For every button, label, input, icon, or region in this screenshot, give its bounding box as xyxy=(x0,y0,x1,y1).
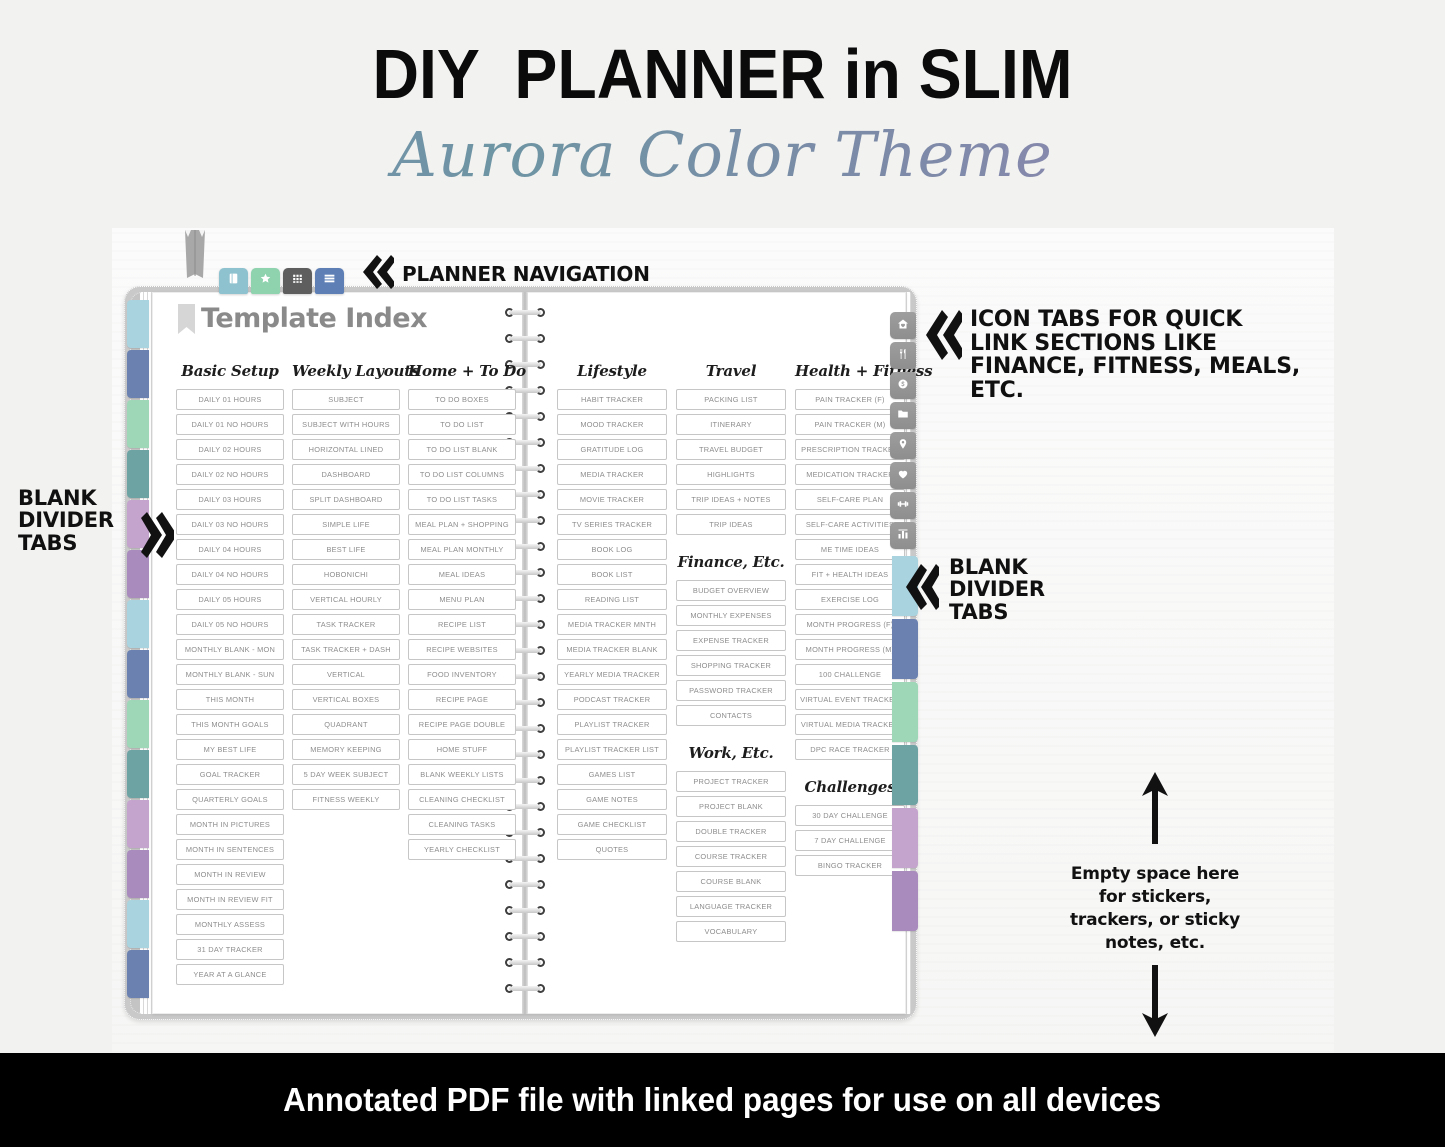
nav-tab-grid[interactable] xyxy=(283,268,312,294)
template-link-button[interactable]: MONTHLY ASSESS xyxy=(176,914,284,935)
meals-fork-knife-icon xyxy=(897,347,909,365)
template-link-button[interactable]: VERTICAL HOURLY xyxy=(292,589,400,610)
category-heading: Challenges xyxy=(795,778,905,796)
template-link-button[interactable]: MONTH IN REVIEW FIT xyxy=(176,889,284,910)
spiral-ring xyxy=(503,308,547,317)
category-heading: Weekly Layouts xyxy=(292,362,400,380)
template-link-button[interactable]: 100 CHALLENGE xyxy=(795,664,905,685)
finance-dollar-icon xyxy=(897,377,909,395)
template-link-button[interactable]: DAILY 01 NO HOURS xyxy=(176,414,284,435)
template-link-button[interactable]: HIGHLIGHTS xyxy=(676,464,786,485)
template-link-button[interactable]: YEAR AT A GLANCE xyxy=(176,964,284,985)
page-subtitle: Aurora Color Theme xyxy=(0,118,1445,191)
divider-tab[interactable] xyxy=(127,750,149,798)
template-link-button[interactable]: FIT + HEALTH IDEAS xyxy=(795,564,905,585)
category-heading: Lifestyle xyxy=(557,362,667,380)
template-link-button[interactable]: DAILY 04 NO HOURS xyxy=(176,564,284,585)
icon-tab-folder[interactable] xyxy=(890,402,916,429)
divider-tab[interactable] xyxy=(127,900,149,948)
template-link-button[interactable]: RECIPE WEBSITES xyxy=(408,639,516,660)
template-link-button[interactable]: QUARTERLY GOALS xyxy=(176,789,284,810)
divider-tab[interactable] xyxy=(127,350,149,398)
template-link-button[interactable]: PLAYLIST TRACKER xyxy=(557,714,667,735)
template-link-button[interactable]: DAILY 03 NO HOURS xyxy=(176,514,284,535)
divider-tab[interactable] xyxy=(127,600,149,648)
template-link-button[interactable]: BOOK LIST xyxy=(557,564,667,585)
template-link-button[interactable]: PROJECT BLANK xyxy=(676,796,786,817)
template-link-button[interactable]: DAILY 04 HOURS xyxy=(176,539,284,560)
template-link-button[interactable]: TRIP IDEAS xyxy=(676,514,786,535)
template-link-button[interactable]: MEAL IDEAS xyxy=(408,564,516,585)
template-link-button[interactable]: 31 DAY TRACKER xyxy=(176,939,284,960)
annotation-empty-space: Empty space here for stickers, trackers,… xyxy=(1055,770,1255,1044)
category-heading: Work, Etc. xyxy=(676,744,786,762)
annotation-blank-divider-tabs-left: BLANK DIVIDER TABS xyxy=(18,475,174,566)
template-column: Health + FitnessPAIN TRACKER (F)PAIN TRA… xyxy=(795,362,905,946)
template-link-button[interactable]: SELF-CARE ACTIVITIES xyxy=(795,514,905,535)
template-link-button[interactable]: DAILY 02 NO HOURS xyxy=(176,464,284,485)
template-link-button[interactable]: SHOPPING TRACKER xyxy=(676,655,786,676)
template-link-button[interactable]: TASK TRACKER + DASH xyxy=(292,639,400,660)
right-page-columns: LifestyleHABIT TRACKERMOOD TRACKERGRATIT… xyxy=(557,362,905,946)
template-link-button[interactable]: PAIN TRACKER (F) xyxy=(795,389,905,410)
annotation-blank-divider-tabs-right-label: BLANK DIVIDER TABS xyxy=(949,556,1099,623)
arrow-down-icon xyxy=(1134,1026,1176,1043)
template-link-button[interactable]: VERTICAL xyxy=(292,664,400,685)
template-link-button[interactable]: CLEANING CHECKLIST xyxy=(408,789,516,810)
template-link-button[interactable]: ITINERARY xyxy=(676,414,786,435)
template-link-button[interactable]: YEARLY MEDIA TRACKER xyxy=(557,664,667,685)
divider-tab[interactable] xyxy=(127,700,149,748)
template-link-button[interactable]: PACKING LIST xyxy=(676,389,786,410)
icon-tab-meals-fork-knife[interactable] xyxy=(890,342,916,369)
template-link-button[interactable]: MONTH PROGRESS (F) xyxy=(795,614,905,635)
template-link-button[interactable]: 5 DAY WEEK SUBJECT xyxy=(292,764,400,785)
chevron-right-double-icon xyxy=(138,509,174,566)
divider-tab[interactable] xyxy=(892,808,918,868)
divider-tab[interactable] xyxy=(127,400,149,448)
template-link-button[interactable]: MEMORY KEEPING xyxy=(292,739,400,760)
template-link-button[interactable]: QUADRANT xyxy=(292,714,400,735)
template-link-button[interactable]: TV SERIES TRACKER xyxy=(557,514,667,535)
chevron-left-double-icon xyxy=(922,306,962,369)
template-link-button[interactable]: DASHBOARD xyxy=(292,464,400,485)
footer-banner: Annotated PDF file with linked pages for… xyxy=(0,1053,1445,1147)
template-link-button[interactable]: GAME CHECKLIST xyxy=(557,814,667,835)
blank-divider-tabs-left[interactable] xyxy=(127,300,149,1000)
template-link-button[interactable]: QUOTES xyxy=(557,839,667,860)
template-link-button[interactable]: GOAL TRACKER xyxy=(176,764,284,785)
template-link-button[interactable]: HOME STUFF xyxy=(408,739,516,760)
icon-tab-finance-dollar[interactable] xyxy=(890,372,916,399)
template-link-button[interactable]: PASSWORD TRACKER xyxy=(676,680,786,701)
template-link-button[interactable]: MEDIA TRACKER BLANK xyxy=(557,639,667,660)
template-link-button[interactable]: MONTHLY EXPENSES xyxy=(676,605,786,626)
template-link-button[interactable]: BOOK LOG xyxy=(557,539,667,560)
footer-text: Annotated PDF file with linked pages for… xyxy=(284,1081,1162,1119)
divider-tab[interactable] xyxy=(892,745,918,805)
template-column: LifestyleHABIT TRACKERMOOD TRACKERGRATIT… xyxy=(557,362,667,946)
template-link-button[interactable]: 7 DAY CHALLENGE xyxy=(795,830,905,851)
template-link-button[interactable]: TRIP IDEAS + NOTES xyxy=(676,489,786,510)
template-link-button[interactable]: CLEANING TASKS xyxy=(408,814,516,835)
annotation-empty-space-label: Empty space here for stickers, trackers,… xyxy=(1055,863,1255,955)
planner-navigation-tabs[interactable] xyxy=(219,268,344,294)
template-link-button[interactable]: DAILY 05 HOURS xyxy=(176,589,284,610)
template-link-button[interactable]: RECIPE PAGE DOUBLE xyxy=(408,714,516,735)
divider-tab[interactable] xyxy=(127,800,149,848)
divider-tab[interactable] xyxy=(127,850,149,898)
template-link-button[interactable]: DAILY 02 HOURS xyxy=(176,439,284,460)
template-column: Weekly LayoutsSUBJECTSUBJECT WITH HOURSH… xyxy=(292,362,400,989)
template-link-button[interactable]: SELF-CARE PLAN xyxy=(795,489,905,510)
template-index-title: Template Index xyxy=(178,303,427,334)
template-link-button[interactable]: MY BEST LIFE xyxy=(176,739,284,760)
template-link-button[interactable]: MENU PLAN xyxy=(408,589,516,610)
annotation-blank-divider-tabs-left-label: BLANK DIVIDER TABS xyxy=(18,487,130,554)
chevron-left-double-icon xyxy=(903,561,939,618)
template-link-button[interactable]: MONTHLY BLANK - MON xyxy=(176,639,284,660)
template-link-button[interactable]: ME TIME IDEAS xyxy=(795,539,905,560)
spiral-ring xyxy=(503,334,547,343)
template-link-button[interactable]: TASK TRACKER xyxy=(292,614,400,635)
fitness-dumbbell-icon xyxy=(897,497,909,515)
divider-tab[interactable] xyxy=(127,950,149,998)
chart-books-icon xyxy=(897,527,909,545)
chevron-left-double-icon xyxy=(360,252,394,297)
template-link-button[interactable]: GAME NOTES xyxy=(557,789,667,810)
template-link-button[interactable]: THIS MONTH xyxy=(176,689,284,710)
list-icon xyxy=(323,272,336,290)
template-link-button[interactable]: RECIPE PAGE xyxy=(408,689,516,710)
promo-graphic: DIY PLANNER in SLIM Aurora Color Theme xyxy=(0,0,1445,1147)
category-heading: Health + Fitness xyxy=(795,362,905,380)
template-link-button[interactable]: MOOD TRACKER xyxy=(557,414,667,435)
template-link-button[interactable]: VOCABULARY xyxy=(676,921,786,942)
annotation-icon-tabs: ICON TABS FOR QUICK LINK SECTIONS LIKE F… xyxy=(922,306,1300,402)
category-heading: Home + To Do xyxy=(408,362,516,380)
template-link-button[interactable]: MONTH IN SENTENCES xyxy=(176,839,284,860)
icon-tab-location-pin[interactable] xyxy=(890,432,916,459)
template-link-button[interactable]: TRAVEL BUDGET xyxy=(676,439,786,460)
template-link-button[interactable]: MEDIA TRACKER xyxy=(557,464,667,485)
location-pin-icon xyxy=(897,437,909,455)
divider-tab[interactable] xyxy=(127,300,149,348)
template-link-button[interactable]: BINGO TRACKER xyxy=(795,855,905,876)
template-link-button[interactable]: PAIN TRACKER (M) xyxy=(795,414,905,435)
template-link-button[interactable]: FOOD INVENTORY xyxy=(408,664,516,685)
nav-tab-book[interactable] xyxy=(219,268,248,294)
template-link-button[interactable]: TO DO LIST BLANK xyxy=(408,439,516,460)
folder-icon xyxy=(897,407,909,425)
annotation-icon-tabs-label: ICON TABS FOR QUICK LINK SECTIONS LIKE F… xyxy=(970,308,1300,402)
template-link-button[interactable]: COURSE TRACKER xyxy=(676,846,786,867)
book-icon xyxy=(227,272,240,290)
template-link-button[interactable]: MONTH PROGRESS (M) xyxy=(795,639,905,660)
template-link-button[interactable]: DAILY 05 NO HOURS xyxy=(176,614,284,635)
template-link-button[interactable]: MEAL PLAN + SHOPPING xyxy=(408,514,516,535)
icon-tab-home-heart[interactable] xyxy=(890,312,916,339)
template-link-button[interactable]: RECIPE LIST xyxy=(408,614,516,635)
nav-tab-star[interactable] xyxy=(251,268,280,294)
nav-tab-list[interactable] xyxy=(315,268,344,294)
template-link-button[interactable]: EXERCISE LOG xyxy=(795,589,905,610)
template-link-button[interactable]: COURSE BLANK xyxy=(676,871,786,892)
left-page-columns: Basic SetupDAILY 01 HOURSDAILY 01 NO HOU… xyxy=(176,362,516,989)
annotation-planner-navigation: PLANNER NAVIGATION xyxy=(360,252,650,297)
template-link-button[interactable]: BLANK WEEKLY LISTS xyxy=(408,764,516,785)
template-link-button[interactable]: MONTH IN PICTURES xyxy=(176,814,284,835)
template-column: Home + To DoTO DO BOXESTO DO LISTTO DO L… xyxy=(408,362,516,989)
template-link-button[interactable]: TO DO LIST xyxy=(408,414,516,435)
home-heart-icon xyxy=(897,317,909,335)
divider-tab[interactable] xyxy=(892,682,918,742)
template-link-button[interactable]: SUBJECT WITH HOURS xyxy=(292,414,400,435)
template-link-button[interactable]: HABIT TRACKER xyxy=(557,389,667,410)
bookmark-icon xyxy=(178,304,195,334)
template-link-button[interactable]: SUBJECT xyxy=(292,389,400,410)
template-link-button[interactable]: SIMPLE LIFE xyxy=(292,514,400,535)
template-link-button[interactable]: BEST LIFE xyxy=(292,539,400,560)
template-link-button[interactable]: VIRTUAL MEDIA TRACKER xyxy=(795,714,905,735)
template-link-button[interactable]: HOBONICHI xyxy=(292,564,400,585)
category-heading: Basic Setup xyxy=(176,362,284,380)
template-link-button[interactable]: PODCAST TRACKER xyxy=(557,689,667,710)
template-link-button[interactable]: DOUBLE TRACKER xyxy=(676,821,786,842)
template-column: TravelPACKING LISTITINERARYTRAVEL BUDGET… xyxy=(676,362,786,946)
divider-tab[interactable] xyxy=(892,871,918,931)
template-link-button[interactable]: THIS MONTH GOALS xyxy=(176,714,284,735)
template-link-button[interactable]: VERTICAL BOXES xyxy=(292,689,400,710)
arrow-up-icon xyxy=(1134,831,1176,848)
template-link-button[interactable]: READING LIST xyxy=(557,589,667,610)
template-link-button[interactable]: YEARLY CHECKLIST xyxy=(408,839,516,860)
template-link-button[interactable]: BUDGET OVERVIEW xyxy=(676,580,786,601)
template-link-button[interactable]: EXPENSE TRACKER xyxy=(676,630,786,651)
template-link-button[interactable]: MEDICATION TRACKER xyxy=(795,464,905,485)
template-link-button[interactable]: HORIZONTAL LINED xyxy=(292,439,400,460)
divider-tab[interactable] xyxy=(127,650,149,698)
annotation-blank-divider-tabs-right: BLANK DIVIDER TABS xyxy=(903,556,1099,623)
heart-icon xyxy=(897,467,909,485)
template-link-button[interactable]: LANGUAGE TRACKER xyxy=(676,896,786,917)
template-link-button[interactable]: 30 DAY CHALLENGE xyxy=(795,805,905,826)
template-link-button[interactable]: DPC RACE TRACKER xyxy=(795,739,905,760)
template-link-button[interactable]: DAILY 01 HOURS xyxy=(176,389,284,410)
template-link-button[interactable]: VIRTUAL EVENT TRACKER xyxy=(795,689,905,710)
template-link-button[interactable]: PRESCRIPTION TRACKER xyxy=(795,439,905,460)
template-link-button[interactable]: MONTHLY BLANK - SUN xyxy=(176,664,284,685)
page-heading-text: Template Index xyxy=(201,303,427,334)
template-link-button[interactable]: PROJECT TRACKER xyxy=(676,771,786,792)
page-title: DIY PLANNER in SLIM xyxy=(58,34,1387,114)
template-link-button[interactable]: MOVIE TRACKER xyxy=(557,489,667,510)
category-heading: Finance, Etc. xyxy=(676,553,786,571)
ribbon-bookmark-icon xyxy=(179,230,211,292)
template-link-button[interactable]: SPLIT DASHBOARD xyxy=(292,489,400,510)
template-column: Basic SetupDAILY 01 HOURSDAILY 01 NO HOU… xyxy=(176,362,284,989)
template-link-button[interactable]: GRATITUDE LOG xyxy=(557,439,667,460)
template-link-button[interactable]: GAMES LIST xyxy=(557,764,667,785)
grid-icon xyxy=(291,272,304,290)
icon-tab-heart[interactable] xyxy=(890,462,916,489)
template-link-button[interactable]: CONTACTS xyxy=(676,705,786,726)
icon-tabs-strip[interactable] xyxy=(890,312,916,552)
template-link-button[interactable]: DAILY 03 HOURS xyxy=(176,489,284,510)
icon-tab-chart-books[interactable] xyxy=(890,522,916,549)
template-link-button[interactable]: TO DO LIST TASKS xyxy=(408,489,516,510)
annotation-planner-navigation-label: PLANNER NAVIGATION xyxy=(402,264,650,285)
template-link-button[interactable]: MEDIA TRACKER MNTH xyxy=(557,614,667,635)
template-link-button[interactable]: TO DO BOXES xyxy=(408,389,516,410)
template-link-button[interactable]: FITNESS WEEKLY xyxy=(292,789,400,810)
template-link-button[interactable]: TO DO LIST COLUMNS xyxy=(408,464,516,485)
template-link-button[interactable]: PLAYLIST TRACKER LIST xyxy=(557,739,667,760)
template-link-button[interactable]: MONTH IN REVIEW xyxy=(176,864,284,885)
icon-tab-fitness-dumbbell[interactable] xyxy=(890,492,916,519)
divider-tab[interactable] xyxy=(892,619,918,679)
star-icon xyxy=(259,272,272,290)
template-link-button[interactable]: MEAL PLAN MONTHLY xyxy=(408,539,516,560)
category-heading: Travel xyxy=(676,362,786,380)
